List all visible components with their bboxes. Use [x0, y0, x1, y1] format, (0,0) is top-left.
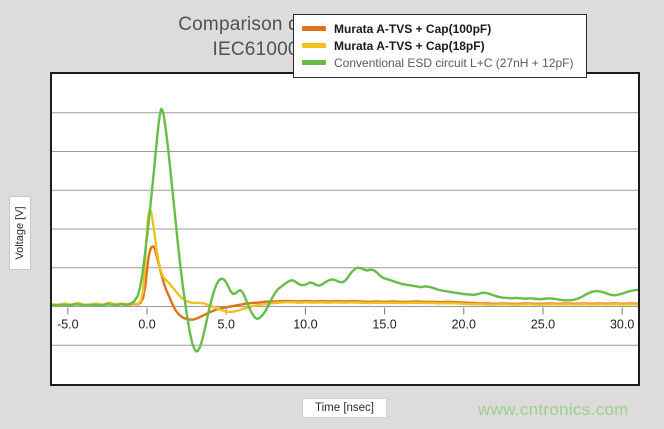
legend-label-orange: Murata A-TVS + Cap(100pF): [334, 22, 491, 36]
legend-label-green: Conventional ESD circuit L+C (27nH + 12p…: [334, 56, 573, 70]
svg-text:5.0: 5.0: [218, 318, 235, 332]
y-axis-title: Voltage [V]: [9, 196, 31, 270]
x-axis-title: Time [nsec]: [302, 398, 387, 418]
y-axis-title-label: Voltage [V]: [14, 206, 26, 259]
svg-text:15.0: 15.0: [372, 318, 396, 332]
plot-area: -200-1000100200300400500600 -5.00.05.010…: [50, 72, 640, 386]
legend-item-yellow: Murata A-TVS + Cap(18pF): [302, 37, 578, 54]
legend-swatch-orange: [302, 26, 326, 31]
svg-text:10.0: 10.0: [293, 318, 317, 332]
x-tick-labels: -5.00.05.010.015.020.025.030.0: [57, 318, 634, 332]
watermark: www.cntronics.com: [478, 400, 629, 420]
legend-swatch-green: [302, 60, 326, 65]
legend-item-orange: Murata A-TVS + Cap(100pF): [302, 20, 578, 37]
svg-text:-5.0: -5.0: [57, 318, 79, 332]
legend-swatch-yellow: [302, 43, 326, 48]
gridlines: [52, 113, 638, 346]
legend-item-green: Conventional ESD circuit L+C (27nH + 12p…: [302, 54, 578, 71]
svg-text:0.0: 0.0: [138, 318, 155, 332]
waveform-plot: -200-1000100200300400500600 -5.00.05.010…: [52, 74, 638, 384]
data-series-group: [52, 109, 638, 352]
svg-text:20.0: 20.0: [452, 318, 476, 332]
legend: Murata A-TVS + Cap(100pF) Murata A-TVS +…: [293, 14, 587, 78]
svg-text:25.0: 25.0: [531, 318, 555, 332]
legend-label-yellow: Murata A-TVS + Cap(18pF): [334, 39, 485, 53]
axis-ticks: [68, 308, 622, 315]
svg-text:30.0: 30.0: [610, 318, 634, 332]
